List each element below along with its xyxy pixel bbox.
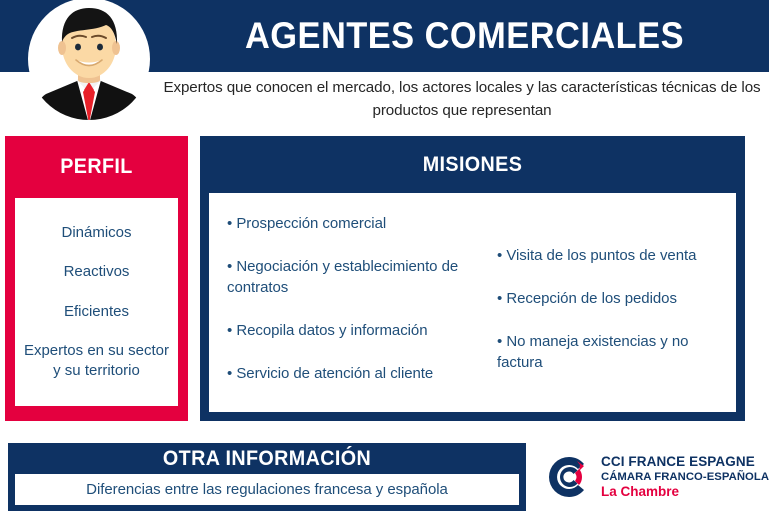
perfil-heading: PERFIL xyxy=(10,136,182,198)
list-item: • Prospección comercial xyxy=(227,213,481,234)
perfil-list: Dinámicos Reactivos Eficientes Expertos … xyxy=(15,198,178,406)
list-item: Eficientes xyxy=(19,302,174,322)
list-item: • Recopila datos y información xyxy=(227,320,481,341)
misiones-heading: MISIONES xyxy=(216,136,728,193)
cci-logo: CCI FRANCE ESPAGNE CÁMARA FRANCO-ESPAÑOL… xyxy=(546,448,761,506)
otra-informacion-panel: OTRA INFORMACIÓN Diferencias entre las r… xyxy=(8,443,526,511)
header-subtitle: Expertos que conocen el mercado, los act… xyxy=(160,76,764,122)
otra-informacion-heading: OTRA INFORMACIÓN xyxy=(24,443,511,474)
logo-line-camara: CÁMARA FRANCO-ESPAÑOLA xyxy=(601,470,769,484)
list-item: • Visita de los puntos de venta xyxy=(497,245,728,266)
misiones-panel: MISIONES • Prospección comercial • Negoc… xyxy=(200,136,745,421)
list-item: Expertos en su sector y su territorio xyxy=(19,341,174,381)
list-item: • No maneja existencias y no factura xyxy=(497,331,728,373)
page-title: AGENTES COMERCIALES xyxy=(181,0,747,72)
logo-line-la-chambre: La Chambre xyxy=(601,484,769,500)
logo-line-france-espagne: CCI FRANCE ESPAGNE xyxy=(601,454,769,470)
list-item: Reactivos xyxy=(19,262,174,282)
cci-chamber-logo-icon xyxy=(546,454,592,500)
businessman-avatar-icon xyxy=(28,0,150,124)
misiones-list: • Prospección comercial • Negociación y … xyxy=(209,193,736,412)
misiones-column-right: • Visita de los puntos de venta • Recepc… xyxy=(491,193,736,412)
list-item: Dinámicos xyxy=(19,223,174,243)
otra-informacion-box: Diferencias entre las regulaciones franc… xyxy=(15,474,519,505)
perfil-panel: PERFIL Dinámicos Reactivos Eficientes Ex… xyxy=(5,136,188,421)
otra-informacion-text: Diferencias entre las regulaciones franc… xyxy=(86,481,448,498)
list-item: • Recepción de los pedidos xyxy=(497,288,728,309)
misiones-column-left: • Prospección comercial • Negociación y … xyxy=(209,193,491,412)
logo-text-block: CCI FRANCE ESPAGNE CÁMARA FRANCO-ESPAÑOL… xyxy=(601,454,769,500)
list-item: • Servicio de atención al cliente xyxy=(227,363,481,384)
list-item: • Negociación y establecimiento de contr… xyxy=(227,256,481,298)
